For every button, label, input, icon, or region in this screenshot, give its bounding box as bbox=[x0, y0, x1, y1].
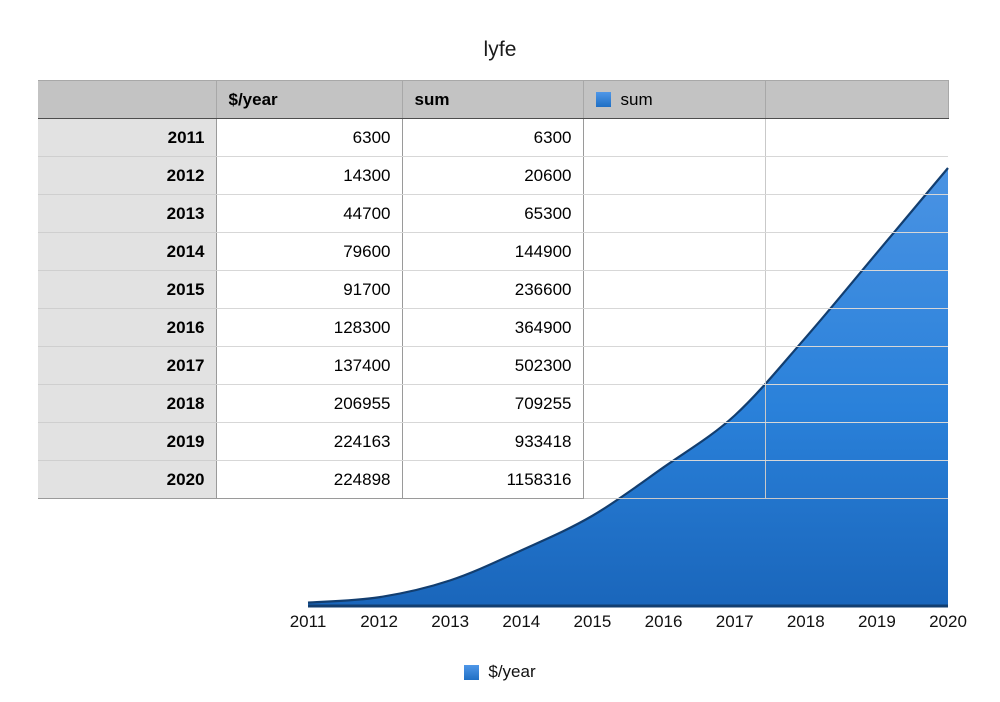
cell-per-year-2015: 91700 bbox=[216, 271, 402, 309]
cell-empty-a-2014 bbox=[583, 233, 765, 271]
table-row: 2018206955709255 bbox=[38, 385, 948, 423]
cell-empty-b-2018 bbox=[765, 385, 948, 423]
header-legend-label: sum bbox=[621, 90, 653, 110]
table-row: 201591700236600 bbox=[38, 271, 948, 309]
x-axis-tick-labels: 2011201220132014201520162017201820192020 bbox=[308, 612, 948, 636]
cell-empty-b-2013 bbox=[765, 195, 948, 233]
cell-sum-2011: 6300 bbox=[402, 119, 583, 157]
table-row: 20134470065300 bbox=[38, 195, 948, 233]
cell-year-2014: 2014 bbox=[38, 233, 216, 271]
header-cell-legend: sum bbox=[583, 81, 765, 119]
table-row: 20121430020600 bbox=[38, 157, 948, 195]
cell-empty-b-2011 bbox=[765, 119, 948, 157]
cell-empty-a-2016 bbox=[583, 309, 765, 347]
cell-year-2016: 2016 bbox=[38, 309, 216, 347]
cell-empty-b-2020 bbox=[765, 461, 948, 499]
cell-per-year-2013: 44700 bbox=[216, 195, 402, 233]
cell-per-year-2020: 224898 bbox=[216, 461, 402, 499]
cell-empty-a-2013 bbox=[583, 195, 765, 233]
cell-per-year-2018: 206955 bbox=[216, 385, 402, 423]
cell-year-2013: 2013 bbox=[38, 195, 216, 233]
cell-empty-b-2014 bbox=[765, 233, 948, 271]
table-header-row: $/year sum sum bbox=[38, 81, 948, 119]
table-body: 2011630063002012143002060020134470065300… bbox=[38, 119, 948, 499]
cell-sum-2018: 709255 bbox=[402, 385, 583, 423]
table-row: 201163006300 bbox=[38, 119, 948, 157]
cell-empty-a-2017 bbox=[583, 347, 765, 385]
table-row: 2017137400502300 bbox=[38, 347, 948, 385]
cell-year-2018: 2018 bbox=[38, 385, 216, 423]
x-tick-2020: 2020 bbox=[903, 612, 993, 632]
cell-empty-b-2017 bbox=[765, 347, 948, 385]
cell-year-2011: 2011 bbox=[38, 119, 216, 157]
cell-empty-a-2012 bbox=[583, 157, 765, 195]
cell-empty-a-2011 bbox=[583, 119, 765, 157]
legend-label-per-year: $/year bbox=[488, 662, 535, 682]
table-row: 2019224163933418 bbox=[38, 423, 948, 461]
cell-empty-a-2015 bbox=[583, 271, 765, 309]
cell-sum-2015: 236600 bbox=[402, 271, 583, 309]
cell-empty-b-2019 bbox=[765, 423, 948, 461]
cell-sum-2013: 65300 bbox=[402, 195, 583, 233]
legend-swatch-icon bbox=[596, 92, 611, 107]
cell-sum-2017: 502300 bbox=[402, 347, 583, 385]
cell-sum-2019: 933418 bbox=[402, 423, 583, 461]
cell-sum-2020: 1158316 bbox=[402, 461, 583, 499]
data-table: $/year sum sum 2011630063002012143002060… bbox=[38, 80, 949, 499]
header-cell-spacer bbox=[765, 81, 948, 119]
cell-per-year-2014: 79600 bbox=[216, 233, 402, 271]
cell-per-year-2012: 14300 bbox=[216, 157, 402, 195]
cell-empty-a-2020 bbox=[583, 461, 765, 499]
cell-sum-2012: 20600 bbox=[402, 157, 583, 195]
cell-empty-b-2016 bbox=[765, 309, 948, 347]
header-cell-sum: sum bbox=[402, 81, 583, 119]
cell-year-2015: 2015 bbox=[38, 271, 216, 309]
cell-empty-b-2012 bbox=[765, 157, 948, 195]
cell-sum-2016: 364900 bbox=[402, 309, 583, 347]
header-cell-corner bbox=[38, 81, 216, 119]
cell-per-year-2011: 6300 bbox=[216, 119, 402, 157]
cell-year-2012: 2012 bbox=[38, 157, 216, 195]
table-row: 2016128300364900 bbox=[38, 309, 948, 347]
cell-per-year-2017: 137400 bbox=[216, 347, 402, 385]
cell-per-year-2019: 224163 bbox=[216, 423, 402, 461]
cell-per-year-2016: 128300 bbox=[216, 309, 402, 347]
cell-year-2017: 2017 bbox=[38, 347, 216, 385]
cell-empty-a-2019 bbox=[583, 423, 765, 461]
legend-swatch-icon bbox=[464, 665, 479, 680]
table-row: 201479600144900 bbox=[38, 233, 948, 271]
cell-sum-2014: 144900 bbox=[402, 233, 583, 271]
cell-empty-a-2018 bbox=[583, 385, 765, 423]
cell-year-2019: 2019 bbox=[38, 423, 216, 461]
chart-legend-bottom: $/year bbox=[0, 662, 1000, 682]
table-row: 20202248981158316 bbox=[38, 461, 948, 499]
cell-year-2020: 2020 bbox=[38, 461, 216, 499]
cell-empty-b-2015 bbox=[765, 271, 948, 309]
header-cell-per-year: $/year bbox=[216, 81, 402, 119]
